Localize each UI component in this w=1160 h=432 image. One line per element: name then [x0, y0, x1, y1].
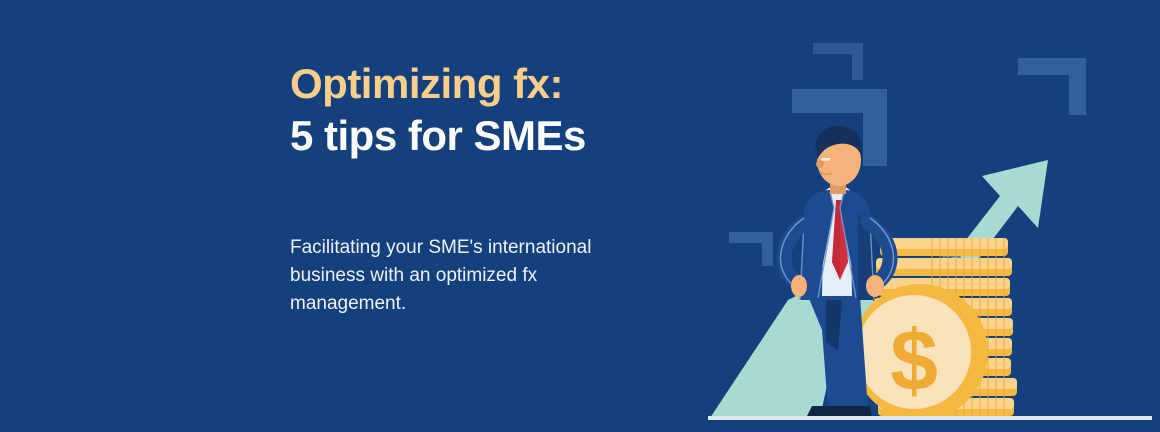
page-title: Optimizing fx: 5 tips for SMEs: [290, 58, 690, 162]
coin-dollar-symbol: $: [890, 313, 938, 409]
hero-illustration: $: [700, 0, 1160, 432]
headline-line-1: Optimizing fx:: [290, 60, 563, 107]
corner-bracket-small-top: [813, 43, 863, 80]
illustration-svg: $: [700, 0, 1160, 432]
text-block: Optimizing fx: 5 tips for SMEs: [290, 58, 690, 162]
subtitle-text: Facilitating your SME's international bu…: [290, 234, 620, 318]
corner-bracket-right: [1018, 58, 1086, 115]
headline-line-2: 5 tips for SMEs: [290, 112, 586, 159]
corner-bracket-left: [729, 232, 773, 266]
promo-banner: Optimizing fx: 5 tips for SMEs Facilitat…: [0, 0, 1160, 432]
dollar-coin-icon: $: [852, 284, 988, 420]
